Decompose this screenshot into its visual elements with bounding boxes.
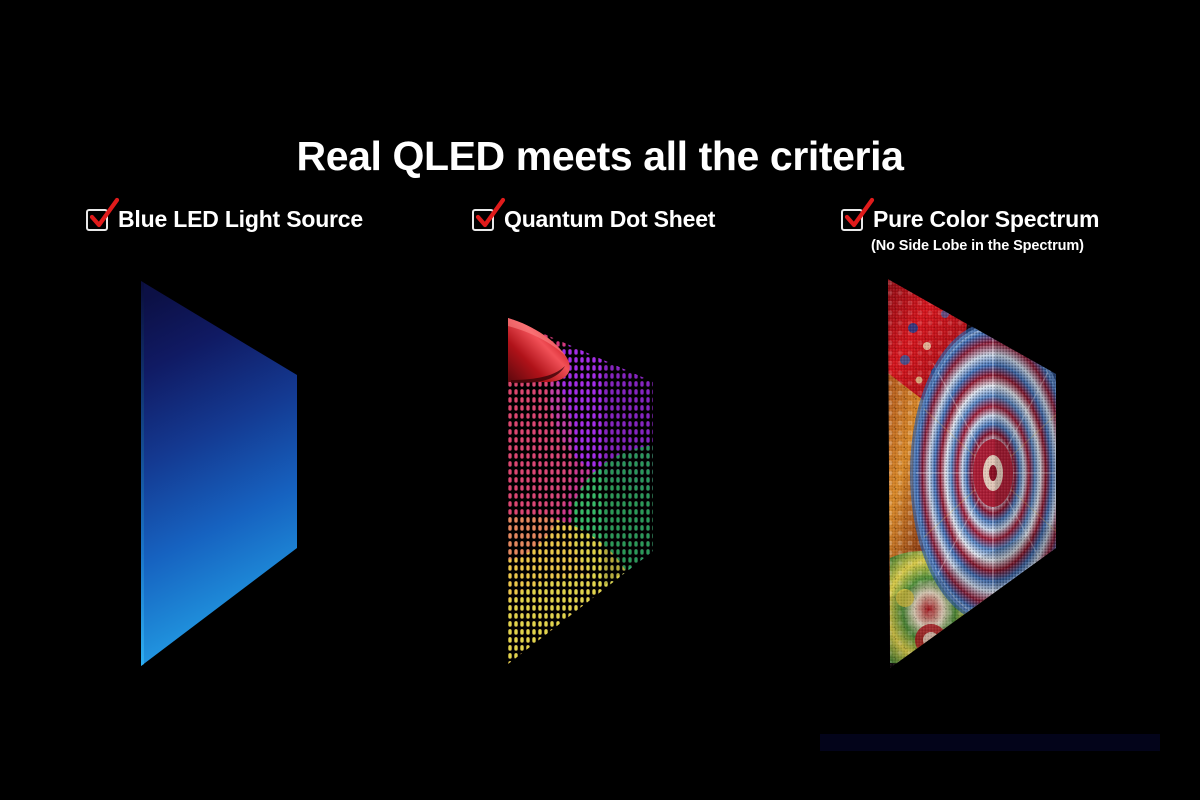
quantum-dot-panel <box>495 300 695 680</box>
slide-canvas: Real QLED meets all the criteria Blue LE… <box>0 0 1200 800</box>
criterion-label: Blue LED Light Source <box>118 208 363 231</box>
page-title: Real QLED meets all the criteria <box>0 133 1200 180</box>
quantum-dot-sheet-illustration <box>495 300 695 680</box>
blue-led-panel <box>130 270 330 680</box>
checked-checkbox-icon[interactable] <box>86 209 108 231</box>
checked-checkbox-icon[interactable] <box>841 209 863 231</box>
blue-led-panel-illustration <box>130 270 330 680</box>
checked-checkbox-icon[interactable] <box>472 209 494 231</box>
criterion-sublabel: (No Side Lobe in the Spectrum) <box>871 238 1084 254</box>
criterion-quantum-dot: Quantum Dot Sheet <box>472 208 715 231</box>
red-check-mark-icon <box>472 198 506 232</box>
criterion-label: Quantum Dot Sheet <box>504 208 715 231</box>
red-check-mark-icon <box>86 198 120 232</box>
criterion-row: Blue LED Light Source <box>86 208 363 231</box>
faint-navy-band <box>820 734 1160 751</box>
criterion-blue-led: Blue LED Light Source <box>86 208 363 231</box>
red-check-mark-icon <box>841 198 875 232</box>
criterion-row: Pure Color Spectrum <box>841 208 1099 231</box>
pure-color-spectrum-image <box>875 268 1075 683</box>
pure-color-panel <box>875 268 1075 683</box>
criterion-label: Pure Color Spectrum <box>873 208 1099 231</box>
criterion-pure-color: Pure Color Spectrum (No Side Lobe in the… <box>841 208 1099 254</box>
criterion-row: Quantum Dot Sheet <box>472 208 715 231</box>
